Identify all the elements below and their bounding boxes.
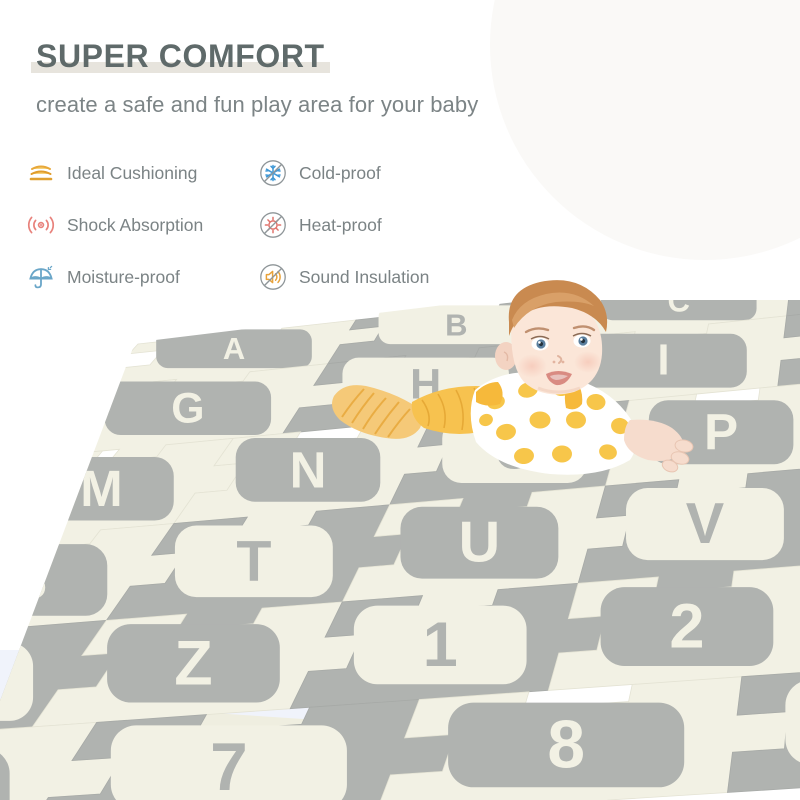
page-title-wrap: SUPER COMFORT [36, 38, 325, 75]
mat-tile-character: S [9, 548, 47, 612]
feature-label: Ideal Cushioning [67, 163, 197, 184]
no-sun-icon [258, 210, 288, 240]
feature-item-cold-proof: Cold-proof [258, 158, 496, 188]
page-subtitle: create a safe and fun play area for your… [36, 92, 656, 118]
feature-label: Moisture-proof [67, 267, 180, 288]
product-feature-banner: SUPER COMFORT create a safe and fun play… [0, 0, 800, 800]
umbrella-icon [26, 262, 56, 292]
page-title: SUPER COMFORT [36, 38, 325, 74]
mat-tile-character: 8 [547, 707, 585, 782]
mat-tile-character: G [171, 384, 204, 432]
mat-tile-letter-plate [0, 544, 107, 616]
mat-tile-letter-plate [0, 643, 33, 721]
mat-tile-character: P [704, 404, 738, 461]
feature-item-moisture-proof: Moisture-proof [26, 262, 258, 292]
feature-item-shock-absorption: Shock Absorption [26, 210, 258, 240]
mat-tile-character: A [223, 331, 245, 366]
shock-wave-icon [26, 210, 56, 240]
no-speaker-icon [258, 262, 288, 292]
cushion-layers-icon [26, 158, 56, 188]
feature-item-heat-proof: Heat-proof [258, 210, 496, 240]
header: SUPER COMFORT create a safe and fun play… [36, 38, 656, 118]
mat-tile-character: 2 [669, 592, 704, 662]
feature-label: Shock Absorption [67, 215, 203, 236]
mat-tile-character: 1 [423, 610, 458, 680]
mat-tile-character: M [80, 460, 122, 517]
feature-label: Heat-proof [299, 215, 382, 236]
mat-tile-character: Z [174, 628, 212, 698]
feature-label: Cold-proof [299, 163, 381, 184]
mat-tile-character: T [236, 529, 271, 593]
no-snowflake-icon [258, 158, 288, 188]
feature-item-ideal-cushioning: Ideal Cushioning [26, 158, 258, 188]
mat-tile-character: 7 [210, 730, 248, 800]
baby-model [300, 270, 700, 540]
